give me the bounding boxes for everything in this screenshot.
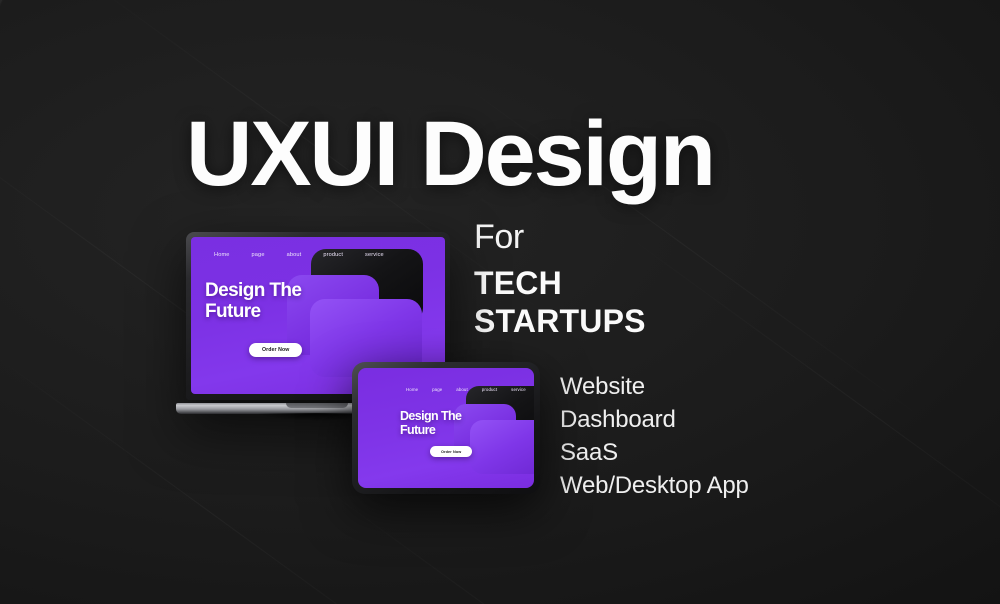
- decor-square-purple-2: [470, 420, 534, 474]
- laptop-notch: [286, 403, 348, 408]
- mock-site-nav[interactable]: Home page about product service: [406, 387, 526, 392]
- tablet-mockup: Home page about product service Design T…: [352, 362, 540, 494]
- audience-line-1: TECH: [474, 264, 646, 302]
- nav-item-page[interactable]: page: [432, 387, 442, 392]
- nav-item-service[interactable]: service: [365, 252, 384, 258]
- mock-hero-title: Design The Future: [205, 281, 301, 322]
- nav-item-home[interactable]: Home: [406, 387, 418, 392]
- hero-line-2: Future: [400, 424, 461, 438]
- hero-line-1: Design The: [400, 410, 461, 424]
- tablet-screen: Home page about product service Design T…: [358, 368, 534, 488]
- mock-hero-title: Design The Future: [400, 410, 461, 437]
- for-label: For: [474, 220, 524, 254]
- order-now-button[interactable]: Order Now: [249, 343, 302, 357]
- poster-canvas: UXUI Design For TECH STARTUPS Website Da…: [0, 0, 1000, 604]
- audience-line-2: STARTUPS: [474, 302, 646, 340]
- list-item: Dashboard: [560, 403, 749, 436]
- nav-item-home[interactable]: Home: [214, 252, 230, 258]
- hero-line-2: Future: [205, 302, 301, 323]
- nav-item-about[interactable]: about: [456, 387, 468, 392]
- service-list: Website Dashboard SaaS Web/Desktop App: [560, 370, 749, 502]
- hero-line-1: Design The: [205, 281, 301, 302]
- list-item: Web/Desktop App: [560, 469, 749, 502]
- nav-item-page[interactable]: page: [252, 252, 265, 258]
- nav-item-service[interactable]: service: [511, 387, 526, 392]
- audience-heading: TECH STARTUPS: [474, 264, 646, 341]
- page-title: UXUI Design: [186, 108, 714, 200]
- nav-item-product[interactable]: product: [323, 252, 343, 258]
- nav-item-product[interactable]: product: [482, 387, 497, 392]
- nav-item-about[interactable]: about: [287, 252, 302, 258]
- list-item: SaaS: [560, 436, 749, 469]
- order-now-button[interactable]: Order Now: [430, 446, 472, 457]
- mock-site-nav[interactable]: Home page about product service: [214, 252, 384, 258]
- list-item: Website: [560, 370, 749, 403]
